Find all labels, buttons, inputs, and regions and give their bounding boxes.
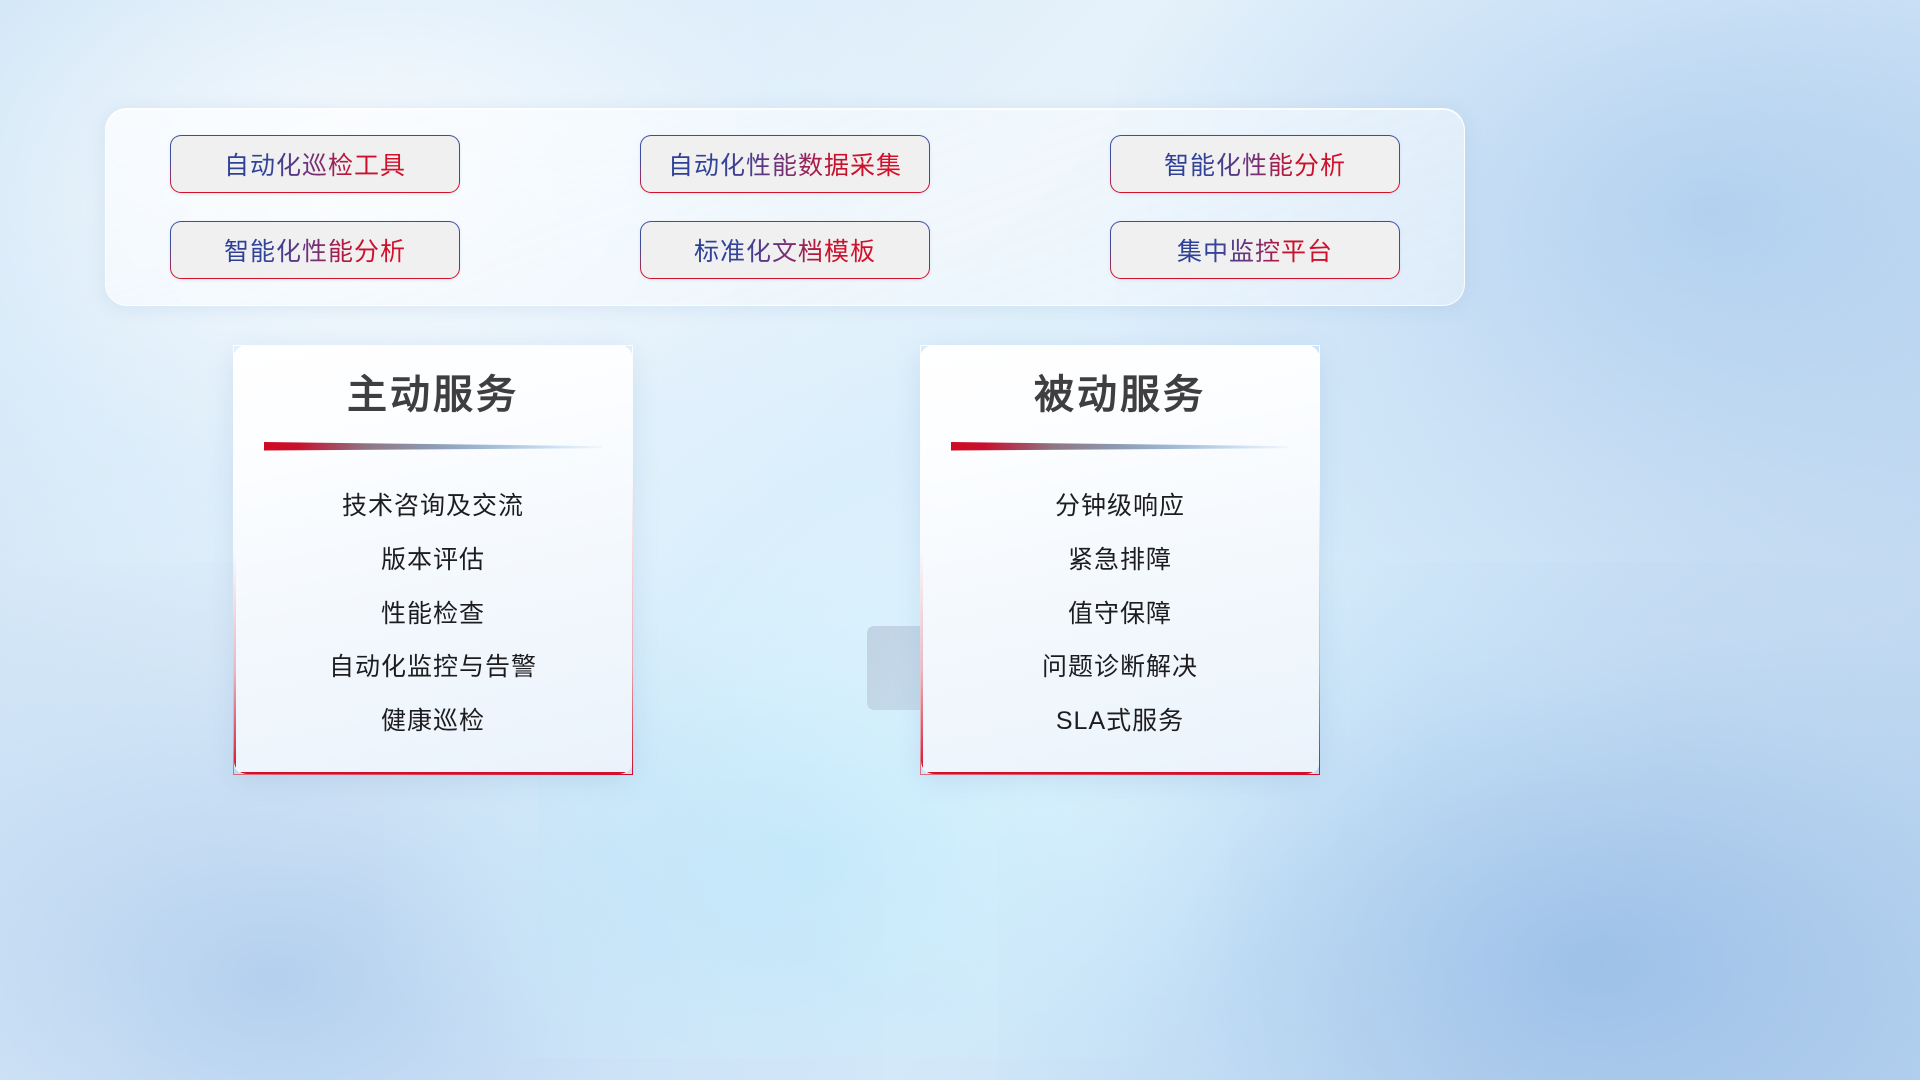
capability-tag-label: 自动化性能数据采集 xyxy=(668,146,902,182)
capability-tag-label: 智能化性能分析 xyxy=(224,232,406,268)
list-item: 技术咨询及交流 xyxy=(264,480,602,534)
capability-tag[interactable]: 智能化性能分析 xyxy=(170,221,460,279)
diagram-stage: 自动化巡检工具 自动化性能数据采集 智能化性能分析 智能化性能分析 标准化文档模… xyxy=(0,0,1920,1080)
capability-tag-label: 智能化性能分析 xyxy=(1164,146,1346,182)
capability-tag[interactable]: 智能化性能分析 xyxy=(1110,135,1400,193)
capability-tag-label: 标准化文档模板 xyxy=(694,232,876,268)
list-item: 问题诊断解决 xyxy=(951,641,1289,695)
list-item: 版本评估 xyxy=(264,534,602,588)
list-item: SLA式服务 xyxy=(951,695,1289,749)
service-card-list: 技术咨询及交流 版本评估 性能检查 自动化监控与告警 健康巡检 xyxy=(264,480,602,749)
list-item: 自动化监控与告警 xyxy=(264,641,602,695)
capability-tag[interactable]: 标准化文档模板 xyxy=(640,221,930,279)
capability-tag-label: 集中监控平台 xyxy=(1177,232,1333,268)
capability-tags-panel: 自动化巡检工具 自动化性能数据采集 智能化性能分析 智能化性能分析 标准化文档模… xyxy=(105,108,1465,306)
list-item: 分钟级响应 xyxy=(951,480,1289,534)
service-card-title: 主动服务 xyxy=(264,372,602,418)
list-item: 健康巡检 xyxy=(264,695,602,749)
capability-tag-row-2: 智能化性能分析 标准化文档模板 集中监控平台 xyxy=(170,221,1400,279)
capability-tag-label: 自动化巡检工具 xyxy=(224,146,406,182)
capability-tag[interactable]: 集中监控平台 xyxy=(1110,221,1400,279)
service-card-list: 分钟级响应 紧急排障 值守保障 问题诊断解决 SLA式服务 xyxy=(951,480,1289,749)
title-divider xyxy=(264,440,602,454)
service-card-active: 主动服务 xyxy=(233,345,633,775)
capability-tag[interactable]: 自动化巡检工具 xyxy=(170,135,460,193)
capability-tag[interactable]: 自动化性能数据采集 xyxy=(640,135,930,193)
list-item: 性能检查 xyxy=(264,588,602,642)
title-divider xyxy=(951,440,1289,454)
list-item: 值守保障 xyxy=(951,588,1289,642)
capability-tag-row-1: 自动化巡检工具 自动化性能数据采集 智能化性能分析 xyxy=(170,135,1400,193)
service-card-title: 被动服务 xyxy=(951,372,1289,418)
list-item: 紧急排障 xyxy=(951,534,1289,588)
service-card-passive: 被动服务 xyxy=(920,345,1320,775)
